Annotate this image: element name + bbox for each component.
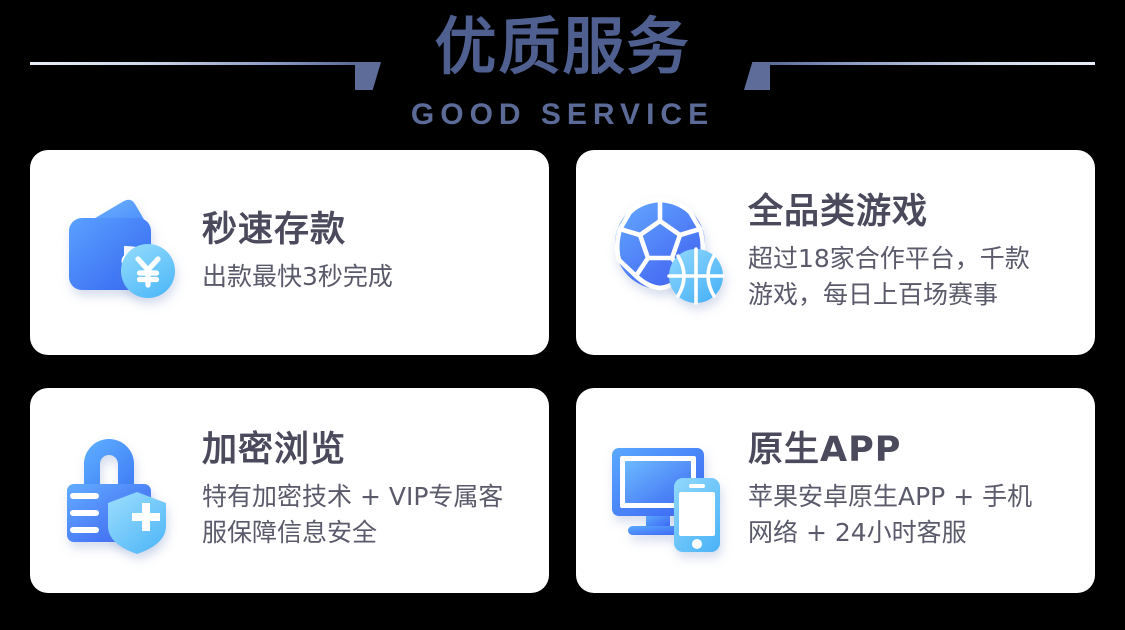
- card-description: 出款最快3秒完成: [202, 259, 523, 295]
- page-title: 优质服务: [0, 14, 1125, 79]
- card-title: 加密浏览: [202, 430, 523, 470]
- feature-card-fast-deposit[interactable]: 秒速存款 出款最快3秒完成: [30, 150, 549, 355]
- page-root: 优质服务 GOOD SERVICE: [0, 0, 1125, 630]
- card-description-line: 服保障信息安全: [202, 515, 523, 551]
- card-text-block: 全品类游戏 超过18家合作平台，千款 游戏，每日上百场赛事: [748, 192, 1069, 313]
- card-text-block: 秒速存款 出款最快3秒完成: [202, 210, 523, 295]
- monitor-phone-icon: [604, 426, 734, 556]
- feature-card-all-category-games[interactable]: 全品类游戏 超过18家合作平台，千款 游戏，每日上百场赛事: [576, 150, 1095, 355]
- card-title: 原生APP: [748, 430, 1069, 470]
- card-description-line: 出款最快3秒完成: [202, 259, 523, 295]
- card-description-line: 特有加密技术 + VIP专属客: [202, 479, 523, 515]
- card-title: 全品类游戏: [748, 192, 1069, 232]
- wallet-yen-icon: [58, 188, 188, 318]
- card-description: 苹果安卓原生APP + 手机 网络 + 24小时客服: [748, 479, 1069, 551]
- card-description: 超过18家合作平台，千款 游戏，每日上百场赛事: [748, 241, 1069, 313]
- page-subtitle: GOOD SERVICE: [0, 98, 1125, 132]
- card-text-block: 加密浏览 特有加密技术 + VIP专属客 服保障信息安全: [202, 430, 523, 551]
- lock-shield-icon: [58, 426, 188, 556]
- card-description: 特有加密技术 + VIP专属客 服保障信息安全: [202, 479, 523, 551]
- card-description-line: 游戏，每日上百场赛事: [748, 277, 1069, 313]
- page-header: 优质服务 GOOD SERVICE: [0, 0, 1125, 140]
- card-description-line: 苹果安卓原生APP + 手机: [748, 479, 1069, 515]
- card-title: 秒速存款: [202, 210, 523, 250]
- feature-card-encrypted-browsing[interactable]: 加密浏览 特有加密技术 + VIP专属客 服保障信息安全: [30, 388, 549, 593]
- soccer-basketball-icon: [604, 188, 734, 318]
- card-text-block: 原生APP 苹果安卓原生APP + 手机 网络 + 24小时客服: [748, 430, 1069, 551]
- card-description-line: 超过18家合作平台，千款: [748, 241, 1069, 277]
- feature-card-native-app[interactable]: 原生APP 苹果安卓原生APP + 手机 网络 + 24小时客服: [576, 388, 1095, 593]
- feature-card-grid: 秒速存款 出款最快3秒完成: [30, 150, 1095, 593]
- card-description-line: 网络 + 24小时客服: [748, 515, 1069, 551]
